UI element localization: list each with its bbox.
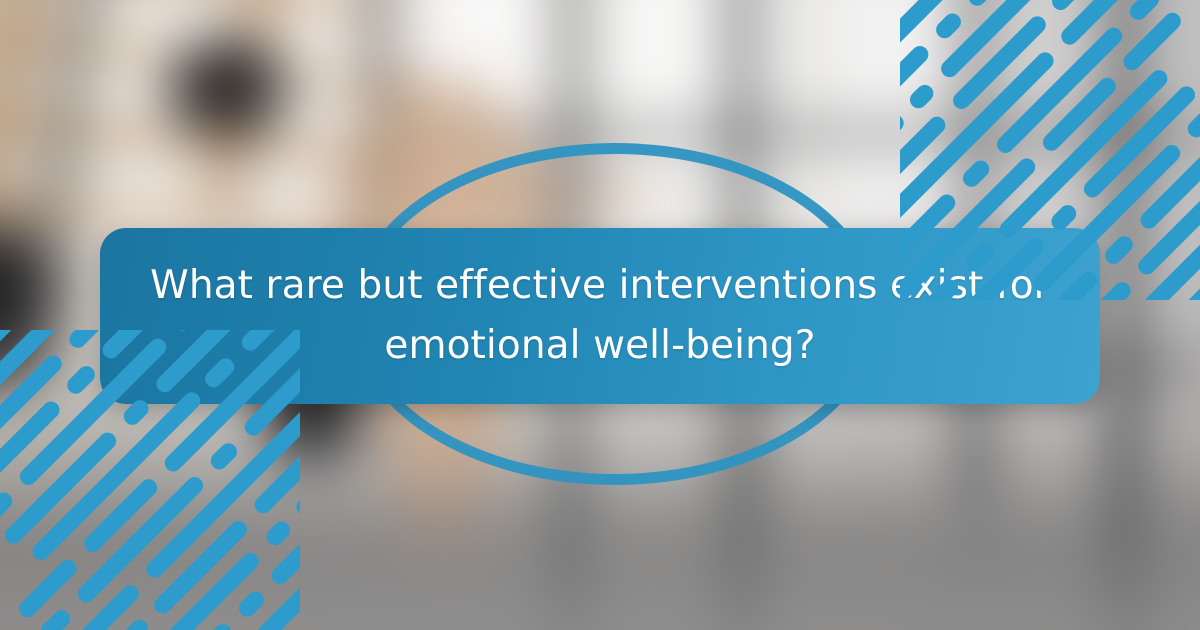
- question-line-1: What rare but effective interventions ex…: [150, 263, 1050, 308]
- silhouette-blob: [165, 39, 292, 140]
- question-line-2: emotional well-being?: [384, 323, 815, 368]
- floor-reflection: [0, 469, 1200, 630]
- question-text: What rare but effective interventions ex…: [150, 256, 1050, 376]
- floor-streak: [966, 426, 991, 606]
- question-banner: What rare but effective interventions ex…: [100, 228, 1100, 404]
- floor-streak: [1109, 395, 1141, 607]
- question-card: What rare but effective interventions ex…: [0, 0, 1200, 630]
